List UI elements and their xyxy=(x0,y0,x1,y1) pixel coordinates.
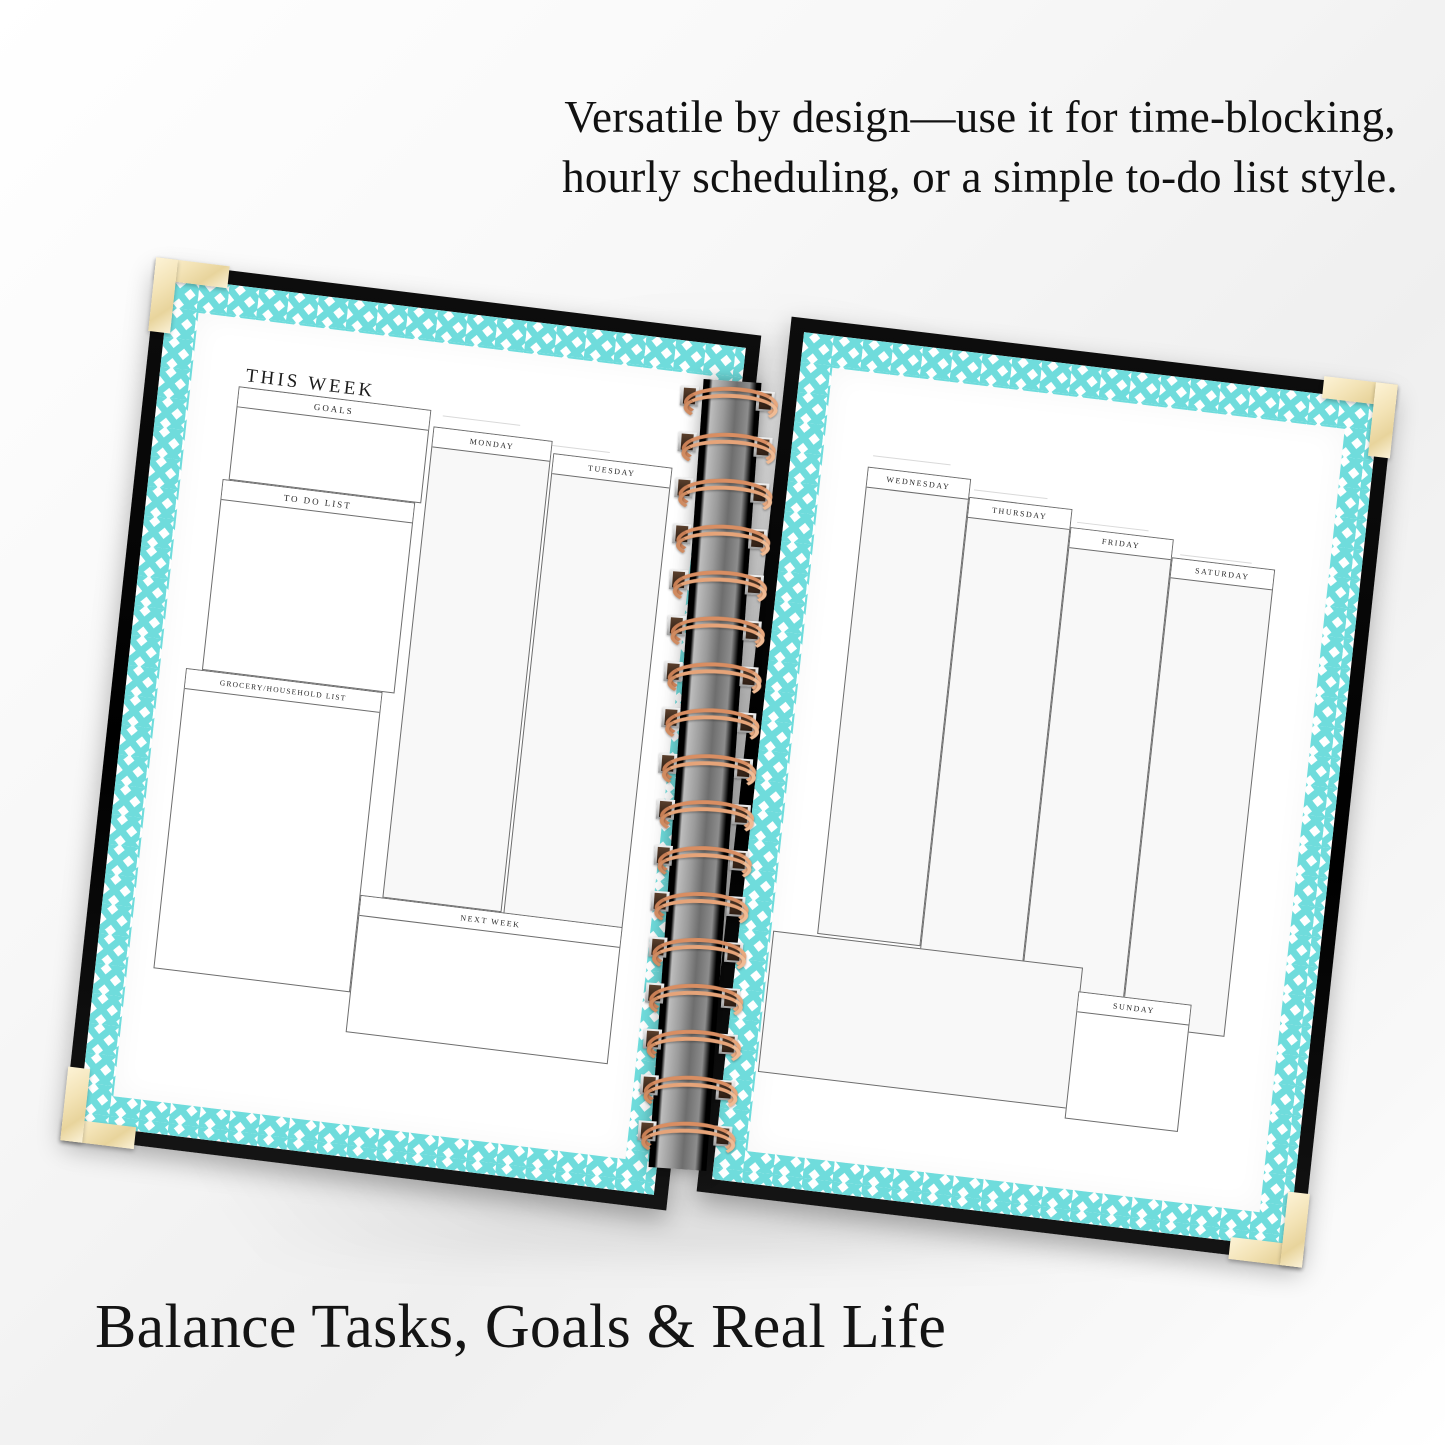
spiral-ring xyxy=(652,935,740,967)
grocery-box[interactable]: GROCERY/HOUSEHOLD LIST xyxy=(153,668,382,992)
corner-protector-top-right xyxy=(1316,376,1397,458)
spiral-ring xyxy=(654,889,742,921)
sunday-box[interactable]: SUNDAY xyxy=(1065,991,1192,1132)
spiral-ring xyxy=(644,1073,732,1105)
spiral-ring xyxy=(683,384,771,416)
spiral-ring xyxy=(665,705,753,737)
spiral-ring xyxy=(649,981,737,1013)
scene: Versatile by design—use it for time-bloc… xyxy=(0,0,1445,1445)
corner-protector-bottom-right xyxy=(1228,1185,1309,1267)
right-page[interactable]: WEDNESDAY THURSDAY FRIDAY SATURDAY SUNDA… xyxy=(697,317,1396,1264)
spiral-ring xyxy=(667,659,755,691)
spiral-ring xyxy=(681,430,769,462)
spiral-ring xyxy=(662,751,750,783)
todo-box[interactable]: TO DO LIST xyxy=(202,479,415,694)
spiral-ring xyxy=(641,1118,729,1150)
corner-protector-top-left xyxy=(148,257,229,340)
spiral-ring xyxy=(646,1027,734,1059)
spiral-ring xyxy=(659,797,747,829)
spiral-ring xyxy=(675,521,763,553)
spiral-ring xyxy=(678,476,766,508)
footer-title: Balance Tasks, Goals & Real Life xyxy=(95,1296,1095,1358)
corner-protector-bottom-left xyxy=(60,1067,141,1150)
planner-book: THIS WEEK GOALS TO DO LIST GROCERY/HOUSE… xyxy=(0,0,1445,1445)
spiral-ring xyxy=(670,613,758,645)
spiral-ring xyxy=(673,567,761,599)
spiral-ring xyxy=(657,843,745,875)
